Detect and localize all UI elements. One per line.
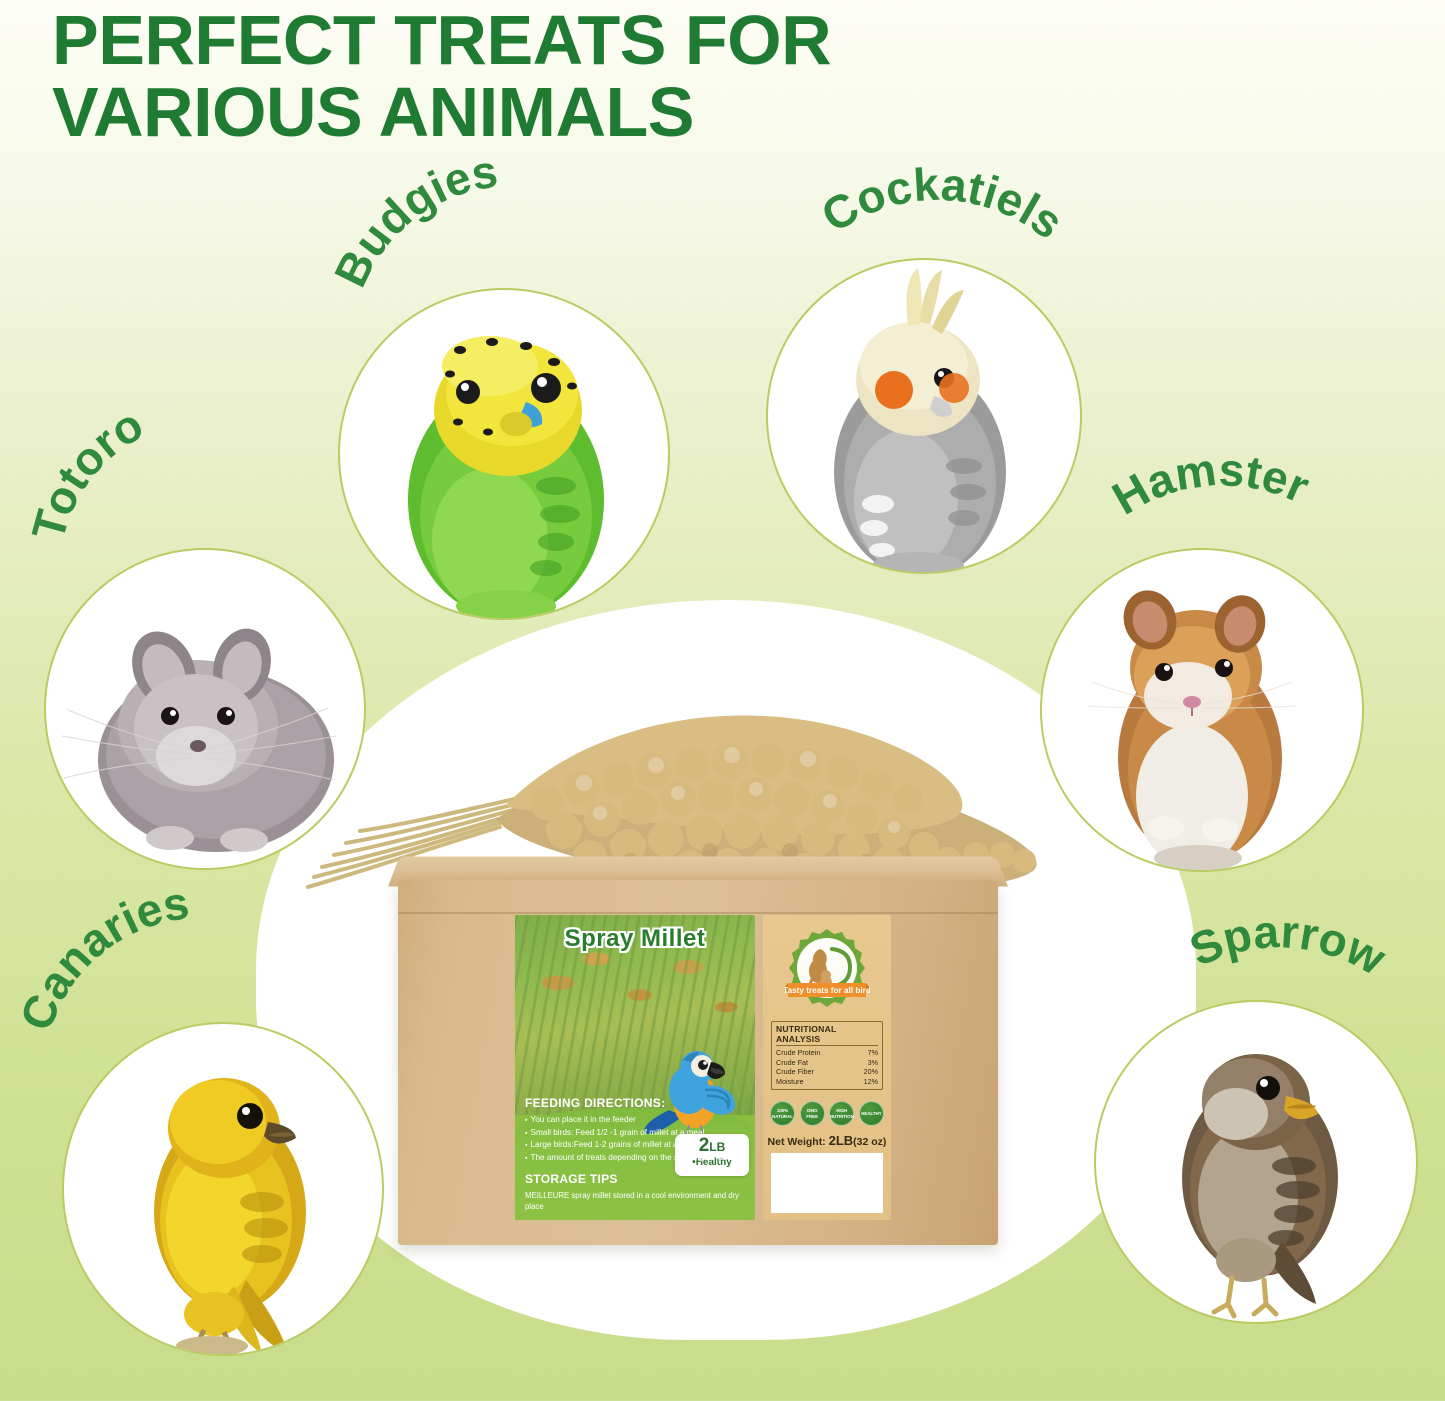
animal-label-budgies: Budgies xyxy=(338,196,668,316)
nutrient-name: Crude Fat xyxy=(776,1058,853,1068)
nutrient-name: Moisture xyxy=(776,1077,853,1087)
box-front-face: Spray Millet xyxy=(398,880,998,1245)
animal-label-totoro: Totoro xyxy=(40,448,360,568)
title-line-1: PERFECT TREATS FOR xyxy=(52,4,1052,76)
nutrition-divider xyxy=(776,1045,878,1046)
box-seam xyxy=(398,912,998,914)
cert-badge-gmo-free: GMO FREE xyxy=(800,1101,825,1126)
svg-text:Hamster: Hamster xyxy=(1104,443,1317,525)
budgie-parakeet-photo xyxy=(340,290,668,618)
animal-label-text: Totoro xyxy=(22,398,152,546)
feeding-item: Small birds: Feed 1/2 -1 grain of millet… xyxy=(525,1127,747,1140)
certification-badges: 100% NATURAL GMO FREE HIGH NUTRITION HEA… xyxy=(770,1101,884,1126)
animal-circle-cockatiels xyxy=(766,258,1082,574)
animal-label-hamster: Hamster xyxy=(1106,444,1436,574)
nutrition-heading: NUTRITIONAL ANALYSIS xyxy=(776,1024,878,1044)
animal-label-text: Sparrow xyxy=(1182,905,1394,985)
nutrient-value: 7% xyxy=(853,1048,878,1058)
nutrient-value: 20% xyxy=(853,1067,878,1077)
blank-white-area xyxy=(771,1153,883,1213)
feeding-item: Large birds:Feed 1-2 grains of millet at… xyxy=(525,1139,747,1152)
product-box: Spray Millet xyxy=(398,880,998,1245)
animal-label-text: Cockatiels xyxy=(812,158,1073,249)
nutrition-row: Crude Fiber 20% xyxy=(776,1067,878,1077)
svg-text:Sparrow: Sparrow xyxy=(1182,905,1394,985)
label-panel-left: Spray Millet xyxy=(515,915,755,1220)
animal-label-canaries: Canaries xyxy=(30,930,360,1055)
canary-photo xyxy=(64,1024,382,1354)
page-title: PERFECT TREATS FOR VARIOUS ANIMALS xyxy=(52,4,1052,148)
net-weight-value: 2LB xyxy=(829,1133,854,1148)
svg-text:Totoro: Totoro xyxy=(22,398,152,546)
feeding-directions-block: FEEDING DIRECTIONS: You can place it in … xyxy=(525,1096,747,1212)
animal-circle-hamster xyxy=(1040,548,1364,872)
title-line-2: VARIOUS ANIMALS xyxy=(52,76,1052,148)
sparrow-photo xyxy=(1096,1002,1416,1322)
animal-label-cockatiels: Cockatiels xyxy=(816,160,1126,290)
net-weight-label: Net Weight: xyxy=(768,1136,826,1148)
feeding-directions-list: You can place it in the feeder Small bir… xyxy=(525,1114,747,1164)
nutrition-row: Moisture 12% xyxy=(776,1077,878,1087)
nutrition-row: Crude Protein 7% xyxy=(776,1048,878,1058)
nutrient-value: 3% xyxy=(853,1058,878,1068)
animal-label-sparrow: Sparrow xyxy=(1178,904,1445,1034)
net-weight-line: Net Weight: 2LB(32 oz) xyxy=(763,1133,891,1148)
nutrient-value: 12% xyxy=(853,1077,878,1087)
product-name: Spray Millet xyxy=(515,925,755,953)
feeding-directions-heading: FEEDING DIRECTIONS: xyxy=(525,1096,747,1110)
svg-text:Canaries: Canaries xyxy=(10,876,193,1037)
svg-text:Budgies: Budgies xyxy=(324,145,501,295)
animal-circle-sparrow xyxy=(1094,1000,1418,1324)
animal-circle-budgies xyxy=(338,288,670,620)
svg-text:Cockatiels: Cockatiels xyxy=(812,158,1073,249)
nutrient-name: Crude Fiber xyxy=(776,1067,853,1077)
feeding-item: The amount of treats depending on the si… xyxy=(525,1152,747,1165)
nutrient-name: Crude Protein xyxy=(776,1048,853,1058)
label-panel-right: MEILLEURE Tasty treats for all bird NUTR… xyxy=(763,915,891,1220)
net-weight-suffix: (32 oz) xyxy=(853,1136,886,1148)
nutrition-row: Crude Fat 3% xyxy=(776,1058,878,1068)
animal-label-text: Canaries xyxy=(10,876,193,1037)
feeding-item: You can place it in the feeder xyxy=(525,1114,747,1127)
infographic-canvas: PERFECT TREATS FOR VARIOUS ANIMALS xyxy=(0,0,1445,1401)
hamster-photo xyxy=(1042,550,1362,870)
storage-tips-text: MEILLEURE spray millet stored in a cool … xyxy=(525,1190,747,1212)
brand-logo: MEILLEURE Tasty treats for all bird xyxy=(784,927,870,1013)
cert-badge-healthy: HEALTHY xyxy=(859,1101,884,1126)
storage-tips-heading: STORAGE TIPS xyxy=(525,1172,747,1186)
brand-tagline: Tasty treats for all bird xyxy=(784,986,870,995)
nutritional-analysis-panel: NUTRITIONAL ANALYSIS Crude Protein 7% Cr… xyxy=(771,1021,883,1090)
animal-label-text: Budgies xyxy=(324,145,501,295)
animal-label-text: Hamster xyxy=(1104,443,1317,525)
cert-badge-high-nutrition: HIGH NUTRITION xyxy=(829,1101,854,1126)
nutrition-table: Crude Protein 7% Crude Fat 3% Crude Fibe… xyxy=(776,1048,878,1086)
animal-circle-canaries xyxy=(62,1022,384,1356)
cert-badge-natural: 100% NATURAL xyxy=(770,1101,795,1126)
cockatiel-photo xyxy=(768,260,1080,572)
